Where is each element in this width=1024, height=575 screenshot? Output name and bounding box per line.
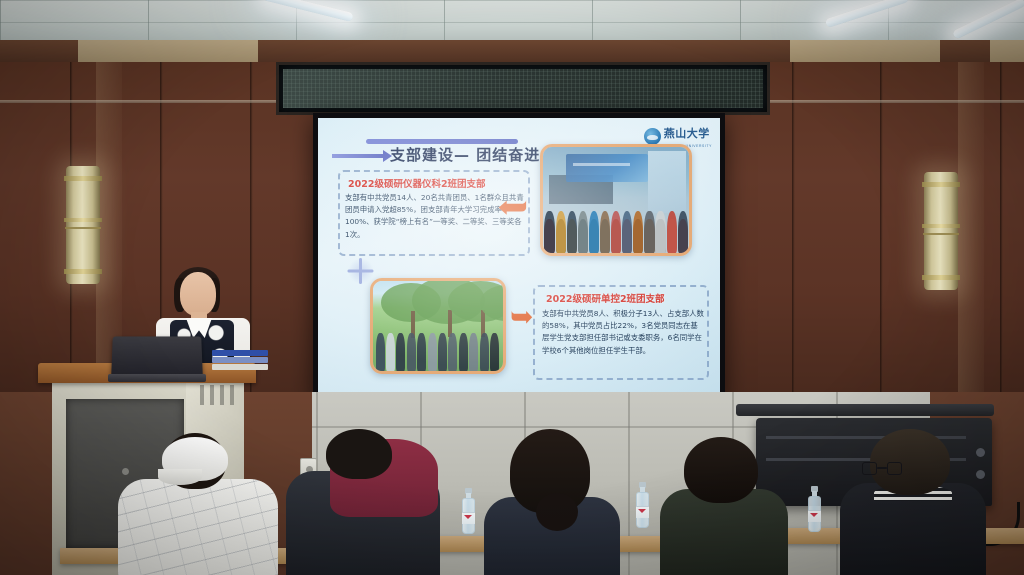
cap-brim	[158, 469, 202, 485]
beam-panel	[790, 40, 940, 64]
water-bottle[interactable]	[808, 486, 821, 532]
audience-member-4	[660, 435, 788, 575]
jacket-print-pattern	[118, 479, 278, 575]
av-rack-shelf	[736, 404, 994, 416]
slide-arrow-icon	[332, 154, 384, 158]
eyeglasses	[862, 462, 902, 475]
ceiling	[0, 0, 1024, 42]
wall-groove	[880, 62, 883, 392]
water-bottle[interactable]	[636, 482, 649, 528]
slide-heading-1: 2022级硕研仪器仪科2班团支部	[348, 176, 486, 190]
slide-heading-2: 2022级硕研单控2班团支部	[546, 291, 665, 305]
stacked-folders	[212, 350, 268, 372]
ponytail	[536, 493, 578, 531]
projection-screen-frame: 支部建设— 团结奋进 群策群力 燕山大学 YANSHAN UNIVERSITY …	[313, 113, 725, 400]
presenter-laptop[interactable]	[108, 336, 206, 382]
beam-panel	[78, 40, 258, 64]
audience-member-2	[286, 435, 440, 575]
audience-1-body	[118, 479, 278, 575]
led-matrix	[283, 69, 763, 108]
projection-screen: 支部建设— 团结奋进 群策群力 燕山大学 YANSHAN UNIVERSITY …	[318, 118, 720, 395]
presenter-head	[180, 272, 216, 316]
slide-photo-indoor	[540, 144, 692, 256]
audience-member-5	[840, 429, 986, 575]
lectern-vents	[200, 385, 234, 405]
wall-light-strip	[958, 62, 984, 392]
logo-name: 燕山大学	[664, 127, 710, 140]
indoor-photo-content	[543, 147, 689, 253]
slide-body-2: 支部有中共党员8人、积极分子13人、占支部人数的58%，其中党员占比22%，3名…	[542, 308, 704, 357]
outdoor-photo-content	[373, 281, 503, 371]
beam-panel	[990, 40, 1024, 64]
slide-sparkle-icon	[348, 258, 374, 284]
crowd-figures	[543, 187, 689, 253]
wall-sconce-left	[66, 166, 100, 284]
wall-groove	[1000, 62, 1003, 392]
audience-member-3	[484, 429, 620, 575]
led-scrolling-banner	[276, 62, 770, 115]
lecture-hall-photo: 支部建设— 团结奋进 群策群力 燕山大学 YANSHAN UNIVERSITY …	[0, 0, 1024, 575]
laptop-keyboard[interactable]	[108, 374, 206, 382]
slide-arrow-curved-2: ➥	[510, 299, 533, 334]
audience-2-head	[326, 429, 392, 479]
logo-mark-icon	[644, 128, 661, 145]
slide-arrow-curved-1: ➥	[497, 188, 528, 227]
water-bottle[interactable]	[462, 488, 475, 534]
wall-groove	[792, 62, 795, 392]
presentation-slide: 支部建设— 团结奋进 群策群力 燕山大学 YANSHAN UNIVERSITY …	[318, 118, 720, 395]
slide-photo-outdoor	[370, 278, 506, 374]
wall-sconce-right	[924, 172, 958, 290]
laptop-screen	[111, 336, 203, 376]
audience-member-1	[118, 445, 278, 575]
audience-4-head	[684, 437, 758, 503]
